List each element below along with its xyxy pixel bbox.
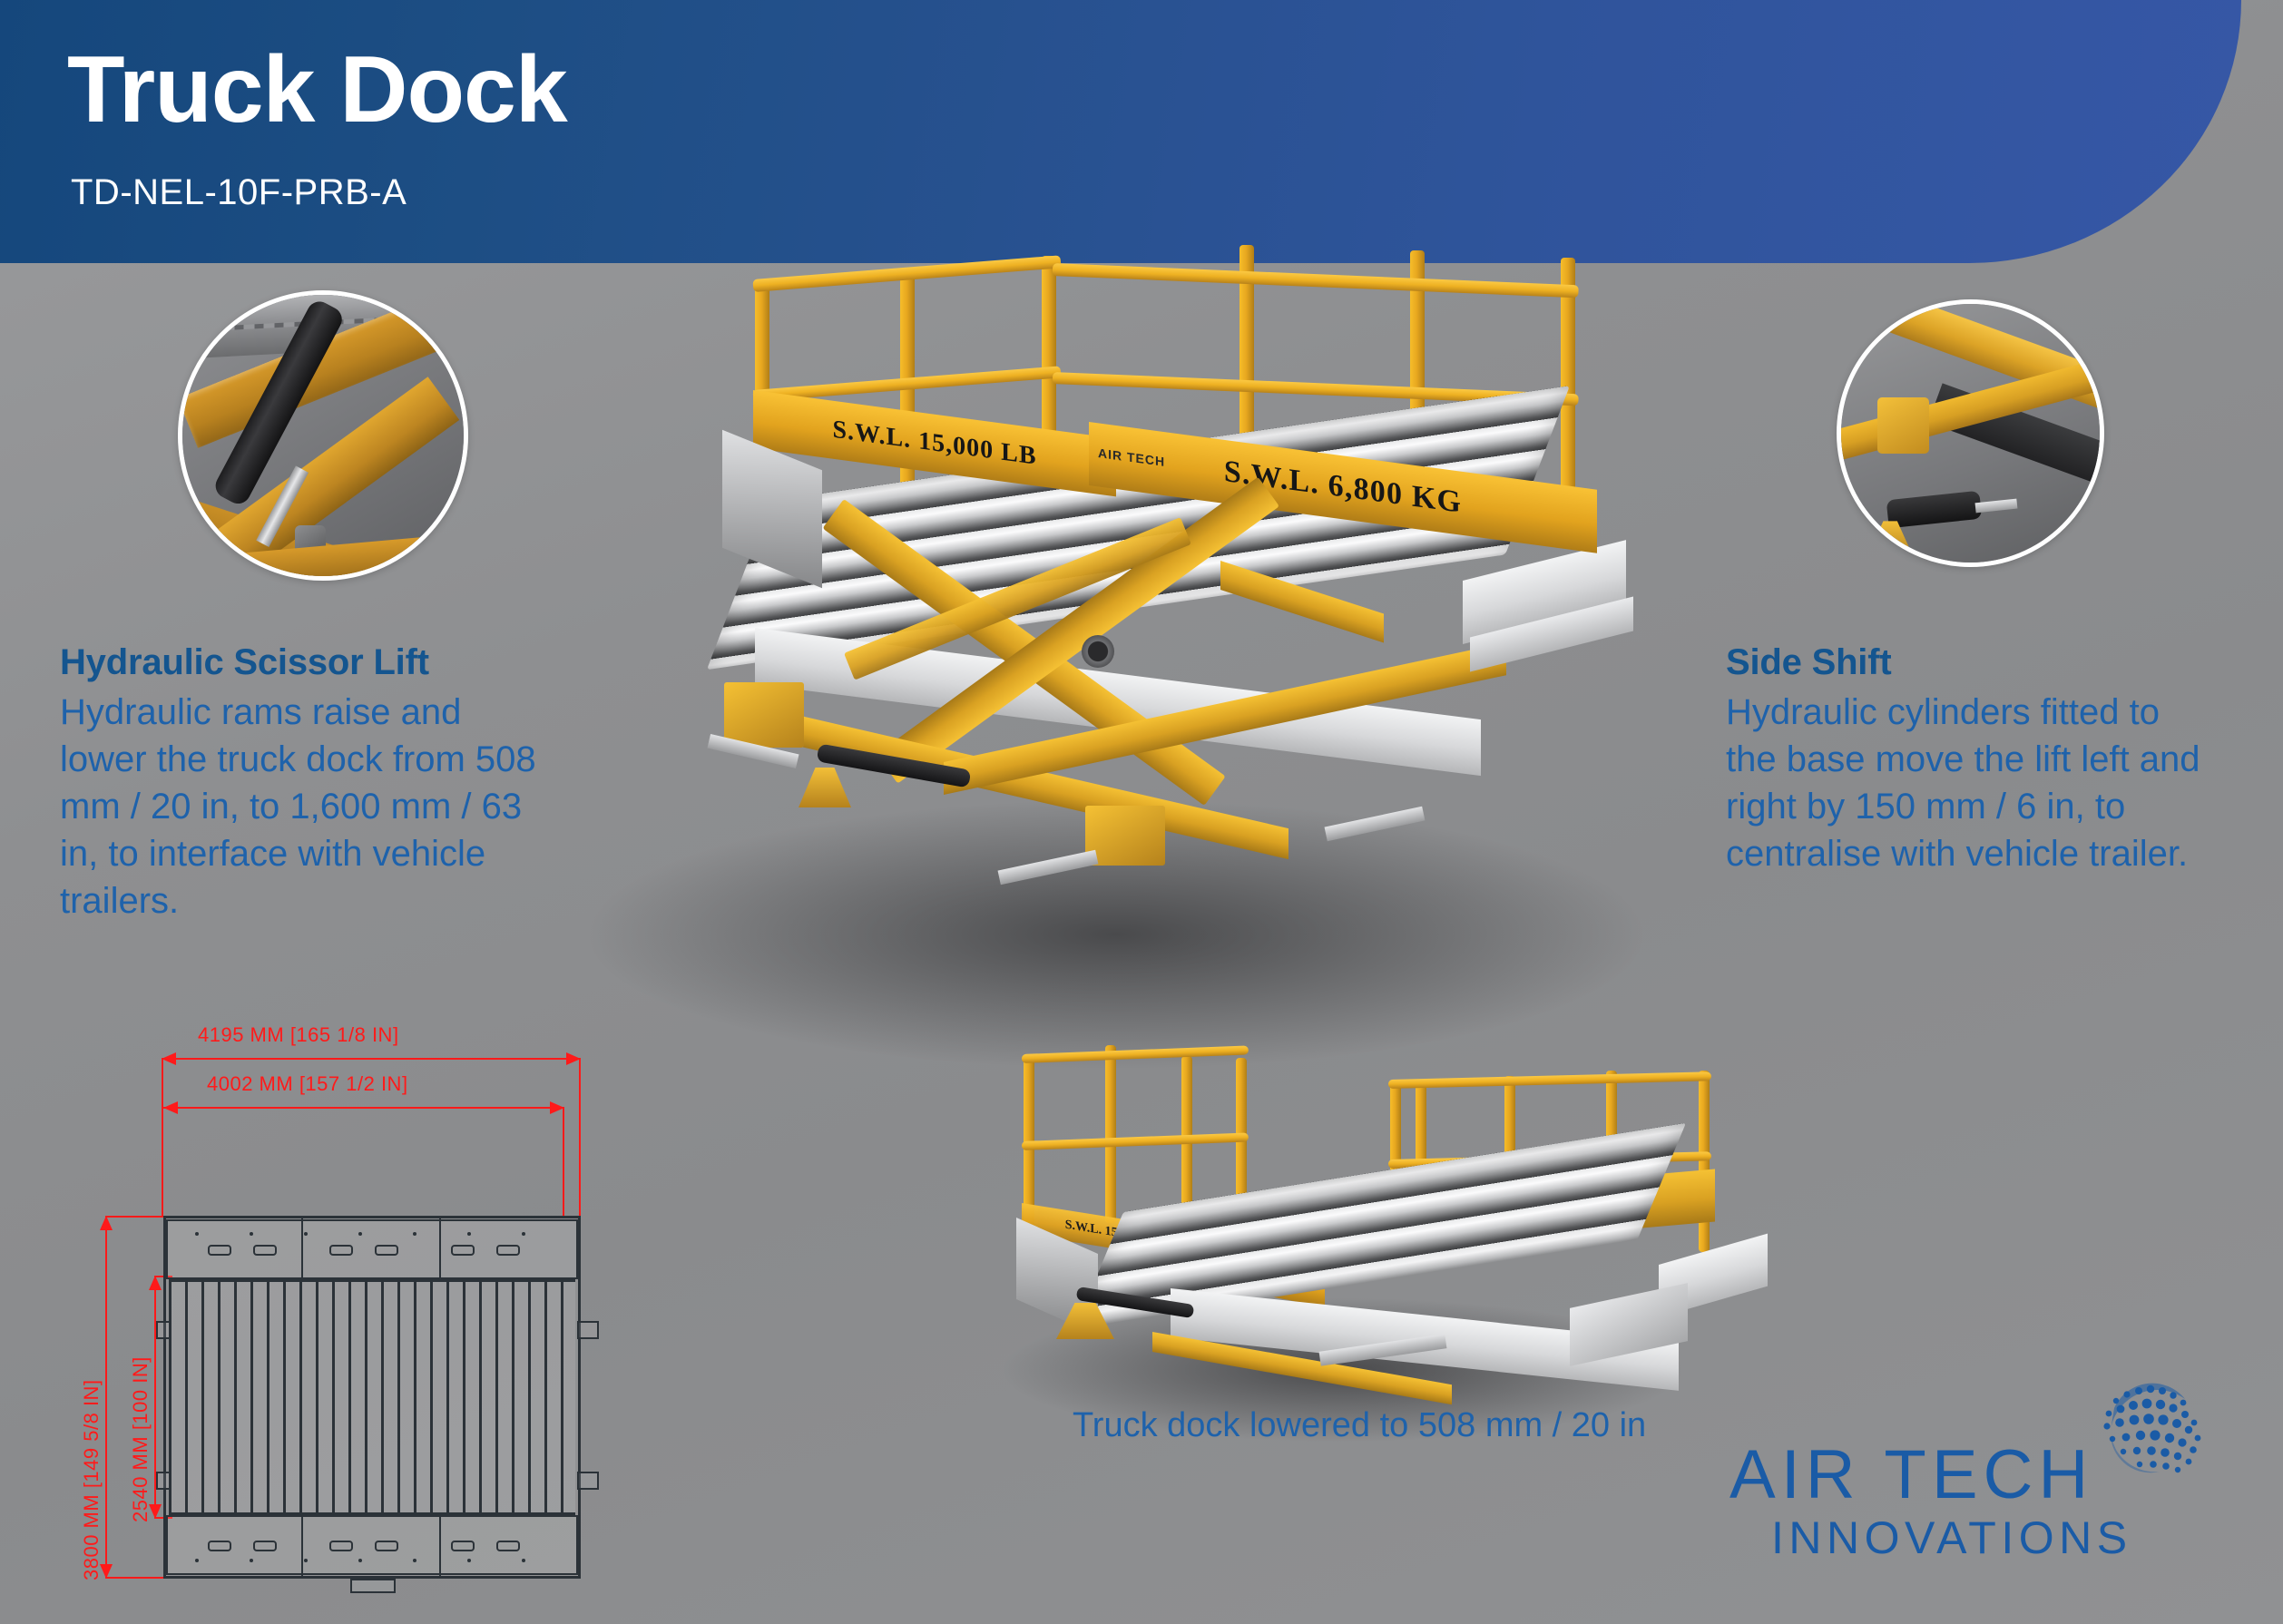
scissor-lift-closeup-image [182, 295, 464, 576]
lowered-photo-caption: Truck dock lowered to 508 mm / 20 in [1073, 1406, 1646, 1445]
lowered-lift-illustration: S.W.L. 15,000 LB S.W.L. 6,800 KG [989, 1043, 1733, 1424]
dim-extension-line [105, 1577, 167, 1579]
plan-slot [208, 1541, 231, 1551]
plan-divider [439, 1216, 441, 1281]
sideshift-block-front [1085, 806, 1165, 866]
plan-dot [304, 1559, 308, 1562]
plan-slot [253, 1541, 277, 1551]
plan-guardrail-top [166, 1219, 578, 1279]
dim-arrow-bottom [100, 1564, 113, 1579]
dim-arrow-left [162, 1052, 176, 1065]
dim-line [163, 1107, 563, 1109]
plan-slot [451, 1245, 475, 1256]
plan-dot [250, 1559, 253, 1562]
feature-body: Hydraulic rams raise and lower the truck… [60, 689, 541, 925]
dim-overall-depth: 3800 MM [149 5/8 IN] [80, 1379, 103, 1580]
plan-dot [358, 1232, 362, 1236]
guardrail-post [1699, 1071, 1710, 1252]
scissor-pivot-pin [1082, 635, 1114, 668]
dim-extension-line [105, 1216, 167, 1218]
guardrail-top-bar [1022, 1045, 1249, 1063]
plan-dot [522, 1559, 525, 1562]
guardrail-top-bar [1388, 1071, 1711, 1089]
plan-side-tab [156, 1321, 171, 1339]
logo-wordmark: AIR TECH [1729, 1435, 2093, 1514]
page-header: Truck Dock TD-NEL-10F-PRB-A [0, 0, 2241, 263]
guardrail-mid-bar [1022, 1132, 1249, 1150]
plan-dot [467, 1559, 471, 1562]
plan-divider [301, 1216, 303, 1281]
plan-divider [301, 1513, 303, 1579]
plan-slot [375, 1245, 398, 1256]
plan-slot [496, 1541, 520, 1551]
plan-view-drawing: 4195 MM [165 1/8 IN] 4002 MM [157 1/2 IN… [54, 1025, 690, 1606]
dim-line [162, 1058, 581, 1060]
plan-side-tab [156, 1472, 171, 1490]
dim-arrow-right [566, 1052, 581, 1065]
plan-slot [496, 1245, 520, 1256]
plan-bottom-tab [350, 1579, 396, 1593]
plan-slot [329, 1541, 353, 1551]
dim-arrow-bottom [149, 1504, 162, 1519]
page-title: Truck Dock [67, 42, 567, 138]
plan-roller-bed [169, 1279, 575, 1515]
plan-slot [208, 1245, 231, 1256]
dim-extension-line [563, 1107, 564, 1218]
dim-overall-width: 4195 MM [165 1/8 IN] [198, 1023, 399, 1047]
plan-dot [195, 1232, 199, 1236]
datasheet-page: Truck Dock TD-NEL-10F-PRB-A [0, 0, 2283, 1624]
truck-dock-raised-photo: S.W.L. 15,000 LB S.W.L. 6,800 KG AIR TEC… [544, 272, 1806, 1025]
dotted-globe-icon [2083, 1366, 2219, 1502]
dim-extension-line [579, 1058, 581, 1218]
side-shift-closeup-image [1841, 304, 2100, 563]
dim-arrow-top [100, 1216, 113, 1230]
sideshift-block-left [724, 682, 804, 748]
side-shift-cylinder-closeup-photo [1837, 299, 2104, 567]
scissor-lift-closeup-photo [178, 290, 468, 581]
dim-deck-depth: 2540 MM [100 IN] [129, 1356, 152, 1522]
plan-dot [413, 1232, 416, 1236]
plan-divider [439, 1513, 441, 1579]
company-logo: AIR TECH INNOVATIONS [1729, 1379, 2201, 1579]
logo-tagline: INNOVATIONS [1771, 1511, 2132, 1564]
guardrail-top-bar [1053, 263, 1579, 298]
feature-title: Hydraulic Scissor Lift [60, 642, 541, 683]
plan-slot [329, 1245, 353, 1256]
plan-dot [522, 1232, 525, 1236]
plan-side-tab [577, 1472, 599, 1490]
dim-arrow-top [149, 1276, 162, 1290]
plan-slot [253, 1245, 277, 1256]
plan-slot [451, 1541, 475, 1551]
feature-hydraulic-scissor-lift: Hydraulic Scissor Lift Hydraulic rams ra… [60, 642, 541, 925]
dim-arrow-right [550, 1101, 564, 1114]
model-number: TD-NEL-10F-PRB-A [71, 172, 407, 213]
dim-extension-line [162, 1058, 163, 1218]
plan-side-tab [577, 1321, 599, 1339]
plan-dot [358, 1559, 362, 1562]
dim-inner-width: 4002 MM [157 1/2 IN] [207, 1072, 408, 1096]
raised-lift-illustration: S.W.L. 15,000 LB S.W.L. 6,800 KG AIR TEC… [544, 272, 1806, 1025]
plan-view-body [163, 1216, 581, 1579]
truck-dock-lowered-photo: S.W.L. 15,000 LB S.W.L. 6,800 KG [989, 1043, 1733, 1424]
plan-guardrail-bottom [166, 1515, 578, 1575]
plan-dot [413, 1559, 416, 1562]
cylinder-anchor-foot [799, 768, 851, 807]
plan-dot [250, 1232, 253, 1236]
guardrail-post [1105, 1045, 1116, 1223]
mounting-block [1877, 397, 1929, 455]
plan-slot [375, 1541, 398, 1551]
dim-line [105, 1216, 107, 1579]
plan-dot [304, 1232, 308, 1236]
plan-dot [195, 1559, 199, 1562]
dim-arrow-left [163, 1101, 178, 1114]
plan-dot [467, 1232, 471, 1236]
